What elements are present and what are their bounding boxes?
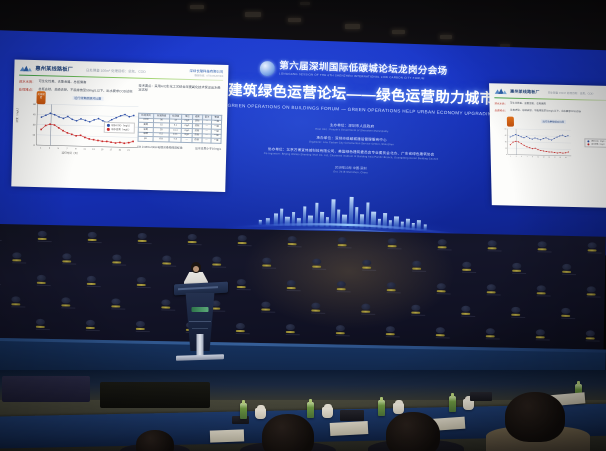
backdrop-logo-icon bbox=[86, 320, 97, 329]
backdrop-logo-icon bbox=[487, 284, 498, 293]
backdrop-logo-icon bbox=[388, 238, 399, 247]
lectern-logo-icon bbox=[192, 307, 209, 312]
audience-foreground bbox=[0, 370, 606, 451]
backdrop-logo-icon bbox=[36, 319, 47, 328]
backdrop-logo-icon bbox=[438, 239, 449, 248]
svg-text:9: 9 bbox=[532, 156, 533, 158]
slide-row-value: 总氮去除、总磷去除、不能排放至50mg/L以下、出水要求COD达标 bbox=[38, 87, 132, 94]
slide-row-value: 可生化性差、含重金属、总氮偏高 bbox=[38, 79, 86, 85]
svg-text:15: 15 bbox=[32, 133, 35, 136]
backdrop-logo-icon bbox=[337, 281, 348, 290]
backdrop-logo-icon bbox=[561, 308, 572, 317]
company-logo-icon bbox=[19, 64, 32, 72]
table-cell: — bbox=[201, 138, 211, 143]
backdrop-logo-icon bbox=[138, 233, 149, 242]
name-plate bbox=[470, 392, 492, 401]
backdrop-logo-icon bbox=[237, 279, 248, 288]
slide-corp: 深圳长隆科技有限公司 服务热线：0755-84287000 bbox=[189, 68, 223, 78]
svg-text:30: 30 bbox=[33, 123, 36, 126]
backdrop-logo-icon bbox=[511, 307, 522, 316]
backdrop-logo-icon bbox=[262, 258, 273, 267]
table-cell: 一级 bbox=[211, 139, 221, 144]
slide-row-key: 进水水质： bbox=[19, 79, 36, 84]
backdrop-logo-icon bbox=[12, 252, 23, 261]
backdrop-logo-icon bbox=[311, 303, 322, 312]
slide-corp-hotline: 服务热线：0755-84287000 bbox=[189, 73, 223, 78]
svg-text:17: 17 bbox=[110, 149, 113, 151]
slide-meta-right: 日处理量 100m³ 处理目标：总氮、COD bbox=[548, 91, 594, 96]
backdrop-logo-icon bbox=[61, 297, 72, 306]
svg-text:1: 1 bbox=[40, 147, 42, 149]
backdrop-logo-icon bbox=[162, 255, 173, 264]
led-screen: 第六届深圳国际低碳城论坛龙岗分会场 LONGGANG SESSION OF TH… bbox=[0, 30, 606, 255]
backdrop-logo-icon bbox=[387, 282, 398, 291]
attendee-head bbox=[136, 430, 174, 451]
forum-credits: 主办单位：深圳市人民政府 Host Unit : People's Govern… bbox=[225, 120, 477, 179]
svg-text:19: 19 bbox=[559, 156, 561, 158]
svg-text:21: 21 bbox=[127, 149, 130, 151]
svg-text:5: 5 bbox=[58, 148, 60, 150]
presentation-slide-right: 惠州某线路板厂 日处理量 100m³ 处理目标：总氮、COD 进水水质： 可生化… bbox=[489, 83, 606, 208]
slide-row-key-right: 处理难点： bbox=[495, 108, 508, 112]
backdrop-logo-icon bbox=[587, 286, 598, 295]
water-bottle bbox=[449, 396, 456, 412]
led-center-content: 第六届深圳国际低碳城论坛龙岗分会场 LONGGANG SESSION OF TH… bbox=[224, 60, 479, 228]
slide-brand: 惠州某线路板厂 bbox=[35, 65, 73, 73]
svg-text:60: 60 bbox=[505, 128, 507, 130]
chart-badge-right bbox=[507, 116, 514, 126]
slide-row-value-right: 可生化性差、含重金属、总氮偏高 bbox=[510, 102, 546, 107]
backdrop-logo-icon bbox=[361, 304, 372, 313]
backdrop-logo-icon bbox=[586, 330, 597, 339]
svg-text:1: 1 bbox=[510, 155, 511, 157]
svg-text:11: 11 bbox=[537, 156, 539, 158]
backdrop-logo-icon bbox=[462, 262, 473, 271]
tea-cup bbox=[255, 408, 266, 419]
water-bottle bbox=[240, 403, 247, 419]
lectern-base bbox=[176, 354, 224, 361]
svg-text:7: 7 bbox=[527, 156, 528, 158]
backdrop-logo-icon bbox=[536, 329, 547, 338]
legend-marker bbox=[107, 128, 110, 131]
chart-plot-right: 60453015013579111315171921 bbox=[499, 121, 574, 165]
chart-badge-label: 处理前后 bbox=[37, 95, 46, 100]
backdrop-logo-icon bbox=[136, 321, 147, 330]
backdrop-logo-icon bbox=[238, 235, 249, 244]
backdrop-logo-icon bbox=[338, 237, 349, 246]
slide-foot-right: 出水总氮小于10mg/L bbox=[195, 146, 221, 151]
table-body: COD9042mg/L达标—一级氨氮153.1mg/L达标—一级总氮2011.4… bbox=[138, 118, 222, 144]
lectern bbox=[172, 283, 228, 360]
table-row: pH6-97.3—达标—一级 bbox=[138, 137, 222, 144]
svg-text:0: 0 bbox=[33, 143, 35, 146]
svg-text:13: 13 bbox=[92, 148, 95, 150]
backdrop-logo-icon bbox=[288, 236, 299, 245]
slide-chart: 处理前后 运行效果数据对比图 浓度（mg/L） 运行时间（天） 60453015… bbox=[17, 94, 135, 155]
svg-text:13: 13 bbox=[543, 156, 545, 158]
backdrop-logo-icon bbox=[386, 326, 397, 335]
chart-ylabel: 浓度（mg/L） bbox=[15, 106, 19, 122]
company-logo-icon bbox=[494, 87, 507, 95]
slide-row-value-right: 总氮去除、总磷去除、不能排放至50mg/L以下、出水要求COD达标 bbox=[510, 108, 581, 114]
svg-text:15: 15 bbox=[101, 149, 104, 151]
backdrop-logo-icon bbox=[461, 306, 472, 315]
svg-text:21: 21 bbox=[565, 156, 567, 158]
slide-data-table: 检测项目标准限值检测值单位结果备注等级 COD9042mg/L达标—一级氨氮15… bbox=[137, 113, 222, 144]
water-bottle bbox=[378, 400, 385, 416]
svg-text:7: 7 bbox=[66, 148, 68, 150]
forum-emblem-icon bbox=[260, 61, 275, 76]
svg-text:3: 3 bbox=[516, 155, 517, 157]
legend-label: 出水总氮（mg/L） bbox=[111, 128, 131, 132]
lectern-stem bbox=[197, 334, 204, 356]
attendee-head bbox=[505, 392, 565, 442]
table-cell: 6-9 bbox=[153, 137, 169, 142]
svg-text:45: 45 bbox=[33, 113, 36, 116]
svg-text:9: 9 bbox=[75, 148, 77, 150]
table-cell: 达标 bbox=[192, 138, 202, 143]
slide-meta: 日处理量 100m³ 处理目标：总氮、COD bbox=[86, 67, 146, 74]
backdrop-logo-icon bbox=[336, 325, 347, 334]
name-plate bbox=[340, 410, 364, 421]
backdrop-logo-icon bbox=[11, 296, 22, 305]
backdrop-logo-icon bbox=[436, 327, 447, 336]
slide-row-key-right: 进水水质： bbox=[494, 101, 507, 105]
presentation-slide-left: 惠州某线路板厂 日处理量 100m³ 处理目标：总氮、COD 深圳长隆科技有限公… bbox=[11, 59, 228, 192]
document-paper bbox=[210, 429, 244, 442]
svg-text:15: 15 bbox=[548, 156, 550, 158]
svg-text:3: 3 bbox=[49, 147, 51, 149]
backdrop-logo-icon bbox=[538, 241, 549, 250]
backdrop-logo-icon bbox=[112, 254, 123, 263]
backdrop-logo-icon bbox=[312, 259, 323, 268]
backdrop-logo-icon bbox=[137, 277, 148, 286]
forum-title: 建筑绿色运营论坛——绿色运营助力城市经济转型 GREEN OPERATIONS … bbox=[228, 84, 479, 116]
slide-foot-left: GB 21900-2008 电镀污染物排放标准 bbox=[137, 145, 183, 150]
backdrop-logo-icon bbox=[488, 240, 499, 249]
chart-legend: 进水COD（mg/L） 出水总氮（mg/L） bbox=[104, 122, 135, 134]
backdrop-logo-icon bbox=[562, 264, 573, 273]
conference-hall-photo: 第六届深圳国际低碳城论坛龙岗分会场 LONGGANG SESSION OF TH… bbox=[0, 0, 606, 451]
slide-row-key: 处理难点： bbox=[19, 86, 36, 91]
backdrop-logo-icon bbox=[62, 253, 73, 262]
backdrop-logo-icon bbox=[362, 260, 373, 269]
backdrop-logo-icon bbox=[38, 231, 49, 240]
backdrop-logo-icon bbox=[287, 280, 298, 289]
backdrop-logo-icon bbox=[286, 324, 297, 333]
chair-block bbox=[100, 382, 210, 408]
attendee-head bbox=[386, 412, 440, 451]
water-bottle bbox=[307, 402, 314, 418]
svg-text:19: 19 bbox=[118, 149, 121, 151]
slide-right-note: 技术要点：采用A/O生化工艺结合深度氧化技术保证出水稳定达标 bbox=[138, 84, 223, 95]
speaker-face bbox=[193, 266, 199, 272]
svg-text:17: 17 bbox=[554, 156, 556, 158]
backdrop-logo-icon bbox=[588, 242, 599, 251]
attendee-head bbox=[262, 414, 314, 451]
backdrop-logo-icon bbox=[412, 261, 423, 270]
backdrop-logo-icon bbox=[87, 276, 98, 285]
backdrop-logo-icon bbox=[411, 305, 422, 314]
backdrop-logo-icon bbox=[88, 232, 99, 241]
chart-badge: 处理前后 bbox=[36, 91, 45, 104]
table-cell: — bbox=[181, 138, 191, 143]
document-paper bbox=[330, 421, 369, 436]
svg-text:11: 11 bbox=[83, 148, 86, 150]
chair-block bbox=[2, 376, 90, 402]
backdrop-logo-icon bbox=[236, 323, 247, 332]
slide-brand-right: 惠州某线路板厂 bbox=[510, 89, 540, 96]
backdrop-light-sheen bbox=[238, 224, 460, 334]
backdrop-logo-icon bbox=[212, 256, 223, 265]
table-cell: 7.3 bbox=[169, 137, 182, 142]
lectern-text-line bbox=[192, 328, 208, 329]
svg-text:15: 15 bbox=[505, 147, 507, 149]
backdrop-logo-icon bbox=[111, 298, 122, 307]
lectern-text-line bbox=[189, 321, 211, 322]
legend-marker-right bbox=[588, 143, 590, 145]
backdrop-logo-icon bbox=[537, 285, 548, 294]
backdrop-logo-icon bbox=[486, 328, 497, 337]
svg-text:30: 30 bbox=[505, 141, 507, 143]
backdrop-logo-icon bbox=[37, 275, 48, 284]
backdrop-logo-icon bbox=[161, 299, 172, 308]
svg-text:45: 45 bbox=[505, 134, 507, 136]
backdrop-logo-icon bbox=[437, 283, 448, 292]
backdrop-logo-icon bbox=[188, 234, 199, 243]
backdrop-logo-icon bbox=[512, 263, 523, 272]
tea-cup bbox=[322, 407, 333, 418]
legend-label-right: 出水总氮（mg/L） bbox=[591, 143, 606, 146]
svg-text:5: 5 bbox=[521, 155, 522, 157]
svg-text:0: 0 bbox=[506, 154, 507, 156]
backdrop-logo-icon bbox=[261, 301, 272, 310]
